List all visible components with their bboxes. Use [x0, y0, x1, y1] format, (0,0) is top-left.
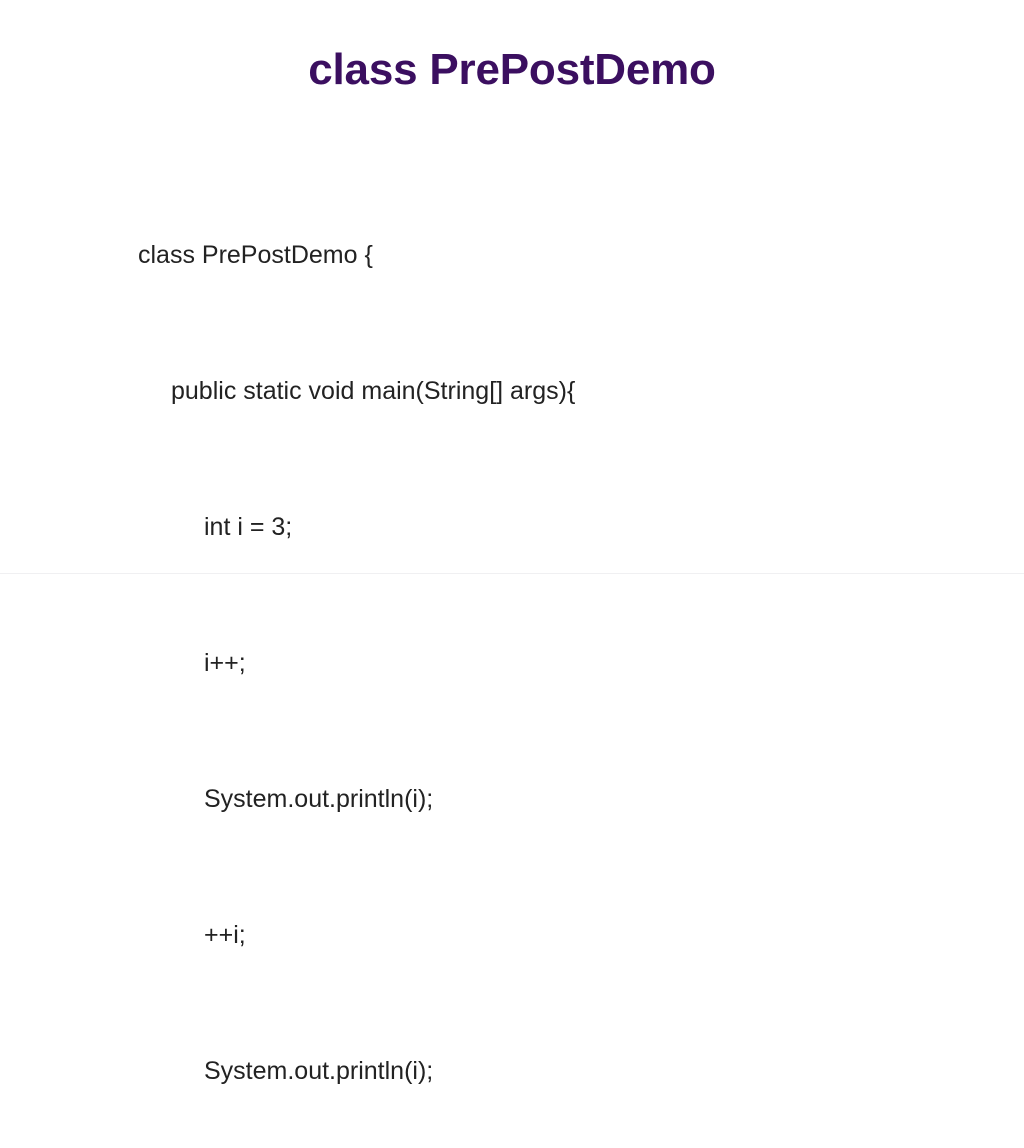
code-line: public static void main(String[] args){: [138, 374, 575, 408]
slide-canvas: class PrePostDemo class PrePostDemo { pu…: [0, 0, 1024, 574]
code-line: i++;: [138, 646, 575, 680]
code-block: class PrePostDemo { public static void m…: [138, 136, 575, 1148]
code-line: System.out.println(i);: [138, 1054, 575, 1088]
code-line: ++i;: [138, 918, 575, 952]
code-line: class PrePostDemo {: [138, 238, 575, 272]
code-line: int i = 3;: [138, 510, 575, 544]
code-line: System.out.println(i);: [138, 782, 575, 816]
page-title: class PrePostDemo: [0, 44, 1024, 96]
